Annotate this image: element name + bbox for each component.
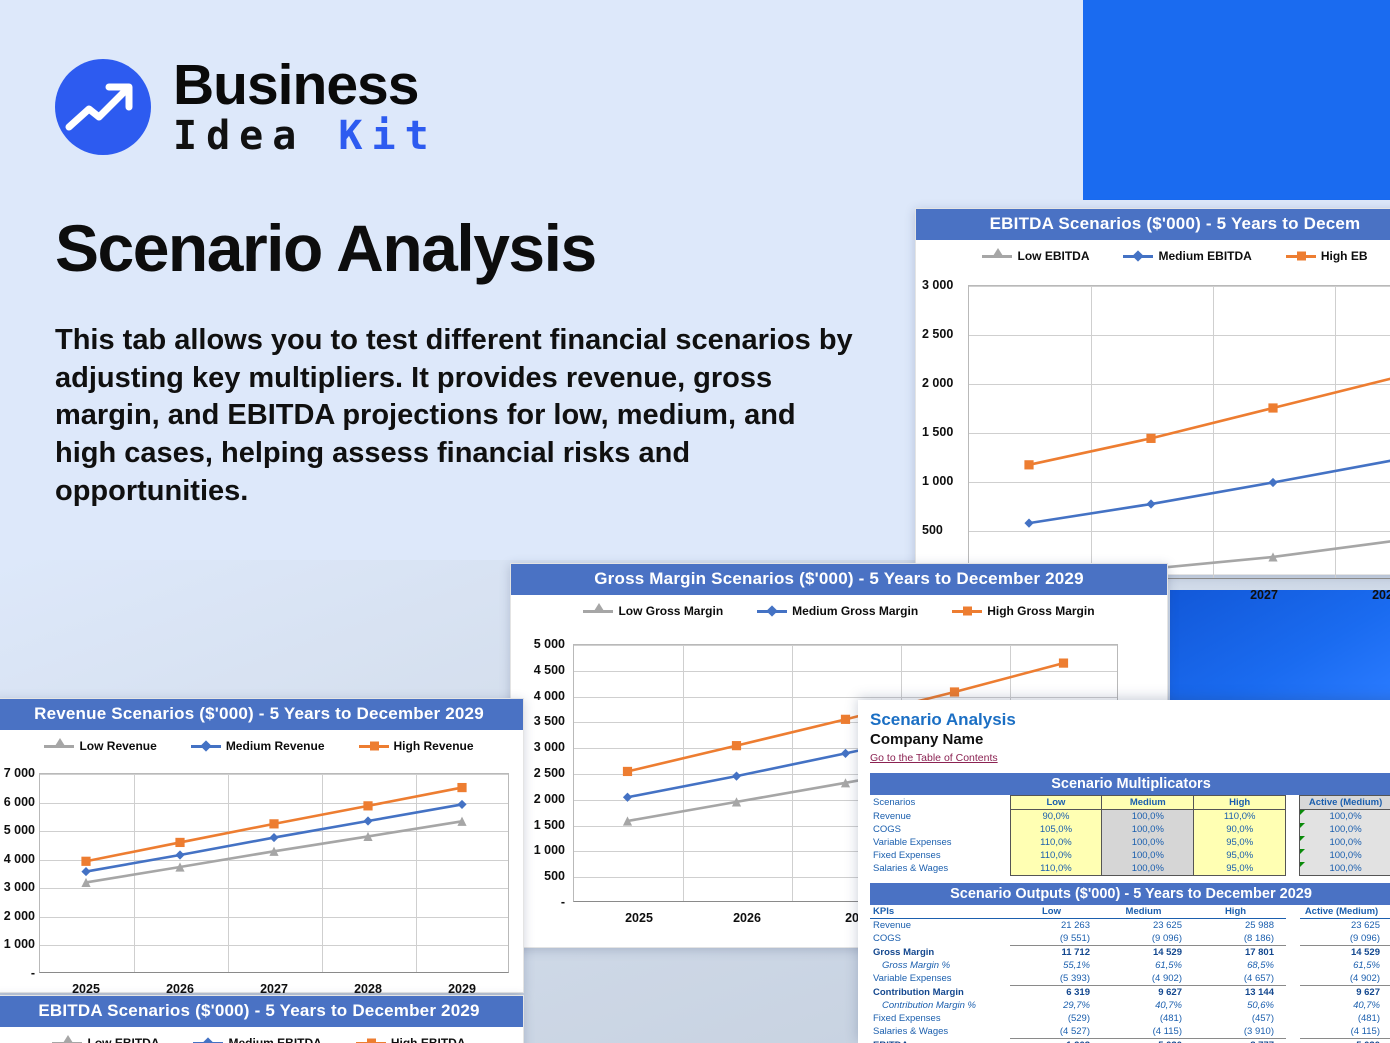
page-description: This tab allows you to test different fi… (55, 322, 855, 510)
outputs-band-title: Scenario Outputs ($'000) - 5 Years to De… (870, 883, 1390, 905)
brand-name-line2: Idea Kit (173, 116, 438, 156)
cell-medium[interactable]: 100,0% (1102, 836, 1194, 849)
kpi-low: 1 263 (1010, 1039, 1102, 1043)
legend-label: Low EBITDA (87, 1036, 159, 1043)
kpi-high: 50,6% (1194, 999, 1286, 1012)
cell-low[interactable]: 105,0% (1010, 823, 1102, 836)
legend-item: Medium Revenue (191, 739, 325, 753)
kpi-low: (5 393) (1010, 972, 1102, 986)
multiplicator-row: Variable Expenses 110,0% 100,0% 95,0% 10… (870, 836, 1390, 849)
multiplicators-band-title: Scenario Multiplicators (870, 773, 1390, 795)
legend-label: High EBITDA (391, 1036, 466, 1043)
kpi-active: 61,5% (1300, 959, 1390, 972)
cell-medium[interactable]: 100,0% (1102, 823, 1194, 836)
kpi-high: 8 777 (1194, 1039, 1286, 1043)
cell-active[interactable]: 100,0% (1300, 862, 1390, 876)
cell-active[interactable]: 100,0% (1300, 810, 1390, 824)
legend-label: Medium EBITDA (228, 1036, 321, 1043)
legend-item: Medium EBITDA (193, 1036, 321, 1043)
row-label: Revenue (870, 810, 1010, 824)
kpi-high: 13 144 (1194, 986, 1286, 1000)
chart-title: Gross Margin Scenarios ($'000) - 5 Years… (511, 564, 1167, 595)
kpi-low: 11 712 (1010, 946, 1102, 960)
cell-active[interactable]: 100,0% (1300, 836, 1390, 849)
kpi-high: (457) (1194, 1012, 1286, 1025)
chart-title: Revenue Scenarios ($'000) - 5 Years to D… (0, 699, 523, 730)
kpi-medium: (4 902) (1102, 972, 1194, 986)
col-header-medium: Medium (1102, 796, 1194, 810)
kpi-medium: 5 030 (1102, 1039, 1194, 1043)
chart-legend: Low EBITDA Medium EBITDA High EBITDA (0, 1027, 523, 1043)
cell-medium[interactable]: 100,0% (1102, 849, 1194, 862)
kpi-low: 55,1% (1010, 959, 1102, 972)
legend-label: Medium EBITDA (1158, 249, 1251, 263)
cell-high[interactable]: 90,0% (1194, 823, 1286, 836)
legend-swatch (583, 610, 613, 613)
legend-label: High EB (1321, 249, 1368, 263)
x-axis-tick: 2027 (1250, 588, 1278, 602)
kpi-row: Gross Margin % 55,1% 61,5% 68,5% 61,5% (870, 959, 1390, 972)
kpi-active: 14 529 (1300, 946, 1390, 960)
multiplicator-row: Fixed Expenses 110,0% 100,0% 95,0% 100,0… (870, 849, 1390, 862)
kpi-row: Revenue 21 263 23 625 25 988 23 625 (870, 919, 1390, 933)
cell-low[interactable]: 110,0% (1010, 862, 1102, 876)
x-axis-tick: 2025 (72, 982, 100, 996)
kpi-label: EBITDA (870, 1039, 1010, 1043)
decorative-blue-panel-top (1083, 0, 1390, 200)
x-axis-tick: 2026 (166, 982, 194, 996)
kpi-active: 5 030 (1300, 1039, 1390, 1043)
legend-item: Low EBITDA (982, 249, 1089, 263)
kpi-label: Salaries & Wages (870, 1025, 1010, 1039)
kpi-label: COGS (870, 932, 1010, 946)
scenario-multiplicators-table: Scenarios Low Medium High Active (Medium… (870, 795, 1390, 876)
kpi-row: Fixed Expenses (529) (481) (457) (481) (870, 1012, 1390, 1025)
cell-high[interactable]: 95,0% (1194, 836, 1286, 849)
kpi-low: 21 263 (1010, 919, 1102, 933)
kpi-medium: (4 115) (1102, 1025, 1194, 1039)
kpi-label: Contribution Margin % (870, 999, 1010, 1012)
scenario-outputs-table: KPIs Low Medium High Active (Medium) Rev… (870, 905, 1390, 1043)
chart-card-ebitda-bottom: EBITDA Scenarios ($'000) - 5 Years to De… (0, 995, 524, 1043)
chart-legend: Low Revenue Medium Revenue High Revenue (0, 730, 523, 757)
legend-item: High EB (1286, 249, 1368, 263)
kpi-row: EBITDA 1 263 5 030 8 777 5 030 (870, 1039, 1390, 1043)
sheet-heading: Scenario Analysis (870, 710, 1390, 730)
chart-card-revenue: Revenue Scenarios ($'000) - 5 Years to D… (0, 698, 524, 993)
scenario-analysis-sheet: Scenario Analysis Company Name Go to the… (858, 700, 1390, 1043)
chart-legend: Low EBITDA Medium EBITDA High EB (916, 240, 1390, 267)
legend-swatch (44, 745, 74, 748)
chart-legend: Low Gross Margin Medium Gross Margin Hig… (511, 595, 1167, 622)
legend-item: High EBITDA (356, 1036, 466, 1043)
kpi-col-header-high: High (1194, 905, 1286, 919)
row-label: COGS (870, 823, 1010, 836)
brand-name-line1: Business (173, 57, 438, 114)
kpi-medium: 61,5% (1102, 959, 1194, 972)
col-header-scenarios: Scenarios (870, 796, 1010, 810)
cell-high[interactable]: 95,0% (1194, 849, 1286, 862)
kpi-medium: 9 627 (1102, 986, 1194, 1000)
brand-idea-text: Idea (173, 113, 338, 159)
legend-label: Medium Revenue (226, 739, 325, 753)
kpi-medium: (9 096) (1102, 932, 1194, 946)
kpi-col-header-medium: Medium (1102, 905, 1194, 919)
kpi-col-header-active: Active (Medium) (1300, 905, 1390, 919)
kpi-high: (4 657) (1194, 972, 1286, 986)
kpi-label: Gross Margin % (870, 959, 1010, 972)
cell-low[interactable]: 90,0% (1010, 810, 1102, 824)
x-axis-tick: 2025 (625, 911, 653, 925)
kpi-label: Variable Expenses (870, 972, 1010, 986)
legend-swatch (982, 255, 1012, 258)
kpi-label: Fixed Expenses (870, 1012, 1010, 1025)
kpi-low: (529) (1010, 1012, 1102, 1025)
kpi-label: Gross Margin (870, 946, 1010, 960)
kpi-row: Contribution Margin 6 319 9 627 13 144 9… (870, 986, 1390, 1000)
sheet-company-name: Company Name (870, 731, 1390, 748)
legend-item: High Revenue (359, 739, 474, 753)
cell-low[interactable]: 110,0% (1010, 836, 1102, 849)
chart-title: EBITDA Scenarios ($'000) - 5 Years to De… (916, 209, 1390, 240)
legend-swatch (359, 745, 389, 748)
legend-swatch (191, 745, 221, 748)
cell-active[interactable]: 100,0% (1300, 849, 1390, 862)
x-axis-tick: 2028 (354, 982, 382, 996)
legend-swatch (1286, 255, 1316, 258)
multiplicator-row: Salaries & Wages 110,0% 100,0% 95,0% 100… (870, 862, 1390, 876)
cell-high[interactable]: 95,0% (1194, 862, 1286, 876)
chart-card-ebitda-top: EBITDA Scenarios ($'000) - 5 Years to De… (915, 208, 1390, 575)
kpi-active: (4 115) (1300, 1025, 1390, 1039)
row-label: Salaries & Wages (870, 862, 1010, 876)
x-axis-tick: 2026 (733, 911, 761, 925)
legend-item: Medium EBITDA (1123, 249, 1251, 263)
kpi-high: (3 910) (1194, 1025, 1286, 1039)
kpi-high: 17 801 (1194, 946, 1286, 960)
kpi-active: 9 627 (1300, 986, 1390, 1000)
cell-high[interactable]: 110,0% (1194, 810, 1286, 824)
kpi-active: (9 096) (1300, 932, 1390, 946)
kpi-label: Contribution Margin (870, 986, 1010, 1000)
brand-kit-text: Kit (338, 113, 437, 159)
kpi-low: 29,7% (1010, 999, 1102, 1012)
legend-swatch (1123, 255, 1153, 258)
kpi-medium: (481) (1102, 1012, 1194, 1025)
legend-label: Low Revenue (79, 739, 156, 753)
kpi-active: 40,7% (1300, 999, 1390, 1012)
kpi-low: 6 319 (1010, 986, 1102, 1000)
legend-label: Low Gross Margin (618, 604, 723, 618)
kpi-row: Contribution Margin % 29,7% 40,7% 50,6% … (870, 999, 1390, 1012)
row-label: Variable Expenses (870, 836, 1010, 849)
legend-label: Low EBITDA (1017, 249, 1089, 263)
legend-swatch (952, 610, 982, 613)
legend-label: Medium Gross Margin (792, 604, 918, 618)
kpi-medium: 40,7% (1102, 999, 1194, 1012)
table-header-row: Scenarios Low Medium High Active (Medium… (870, 796, 1390, 810)
legend-item: Medium Gross Margin (757, 604, 918, 618)
legend-item: Low EBITDA (52, 1036, 159, 1043)
series-layer (0, 757, 549, 1013)
row-label: Fixed Expenses (870, 849, 1010, 862)
page-title: Scenario Analysis (55, 210, 596, 286)
x-axis-tick: 2028 (1372, 588, 1390, 602)
cell-medium[interactable]: 100,0% (1102, 862, 1194, 876)
cell-low[interactable]: 110,0% (1010, 849, 1102, 862)
kpi-row: Gross Margin 11 712 14 529 17 801 14 529 (870, 946, 1390, 960)
col-header-low: Low (1010, 796, 1102, 810)
x-axis-tick: 2027 (260, 982, 288, 996)
chart-title: EBITDA Scenarios ($'000) - 5 Years to De… (0, 996, 523, 1027)
brand-logo: Business Idea Kit (55, 57, 438, 156)
kpi-col-header-low: Low (1010, 905, 1102, 919)
kpi-high: 25 988 (1194, 919, 1286, 933)
multiplicator-row: Revenue 90,0% 100,0% 110,0% 100,0% (870, 810, 1390, 824)
col-header-high: High (1194, 796, 1286, 810)
x-axis-tick: 2029 (448, 982, 476, 996)
kpi-active: 23 625 (1300, 919, 1390, 933)
legend-item: High Gross Margin (952, 604, 1094, 618)
kpi-active: (481) (1300, 1012, 1390, 1025)
table-of-contents-link[interactable]: Go to the Table of Contents (870, 752, 998, 764)
kpi-active: (4 902) (1300, 972, 1390, 986)
kpi-row: Salaries & Wages (4 527) (4 115) (3 910)… (870, 1025, 1390, 1039)
col-header-kpis: KPIs (870, 905, 1010, 919)
cell-medium[interactable]: 100,0% (1102, 810, 1194, 824)
kpi-row: COGS (9 551) (9 096) (8 186) (9 096) (870, 932, 1390, 946)
kpi-high: 68,5% (1194, 959, 1286, 972)
trend-arrow-icon (55, 59, 151, 155)
kpi-low: (4 527) (1010, 1025, 1102, 1039)
legend-label: High Gross Margin (987, 604, 1094, 618)
legend-swatch (757, 610, 787, 613)
cell-active[interactable]: 100,0% (1300, 823, 1390, 836)
kpi-high: (8 186) (1194, 932, 1286, 946)
col-header-active: Active (Medium) (1300, 796, 1390, 810)
kpi-label: Revenue (870, 919, 1010, 933)
multiplicator-row: COGS 105,0% 100,0% 90,0% 100,0% (870, 823, 1390, 836)
legend-label: High Revenue (394, 739, 474, 753)
kpi-header-row: KPIs Low Medium High Active (Medium) (870, 905, 1390, 919)
legend-item: Low Gross Margin (583, 604, 723, 618)
kpi-low: (9 551) (1010, 932, 1102, 946)
legend-item: Low Revenue (44, 739, 156, 753)
kpi-medium: 23 625 (1102, 919, 1194, 933)
kpi-row: Variable Expenses (5 393) (4 902) (4 657… (870, 972, 1390, 986)
kpi-medium: 14 529 (1102, 946, 1194, 960)
